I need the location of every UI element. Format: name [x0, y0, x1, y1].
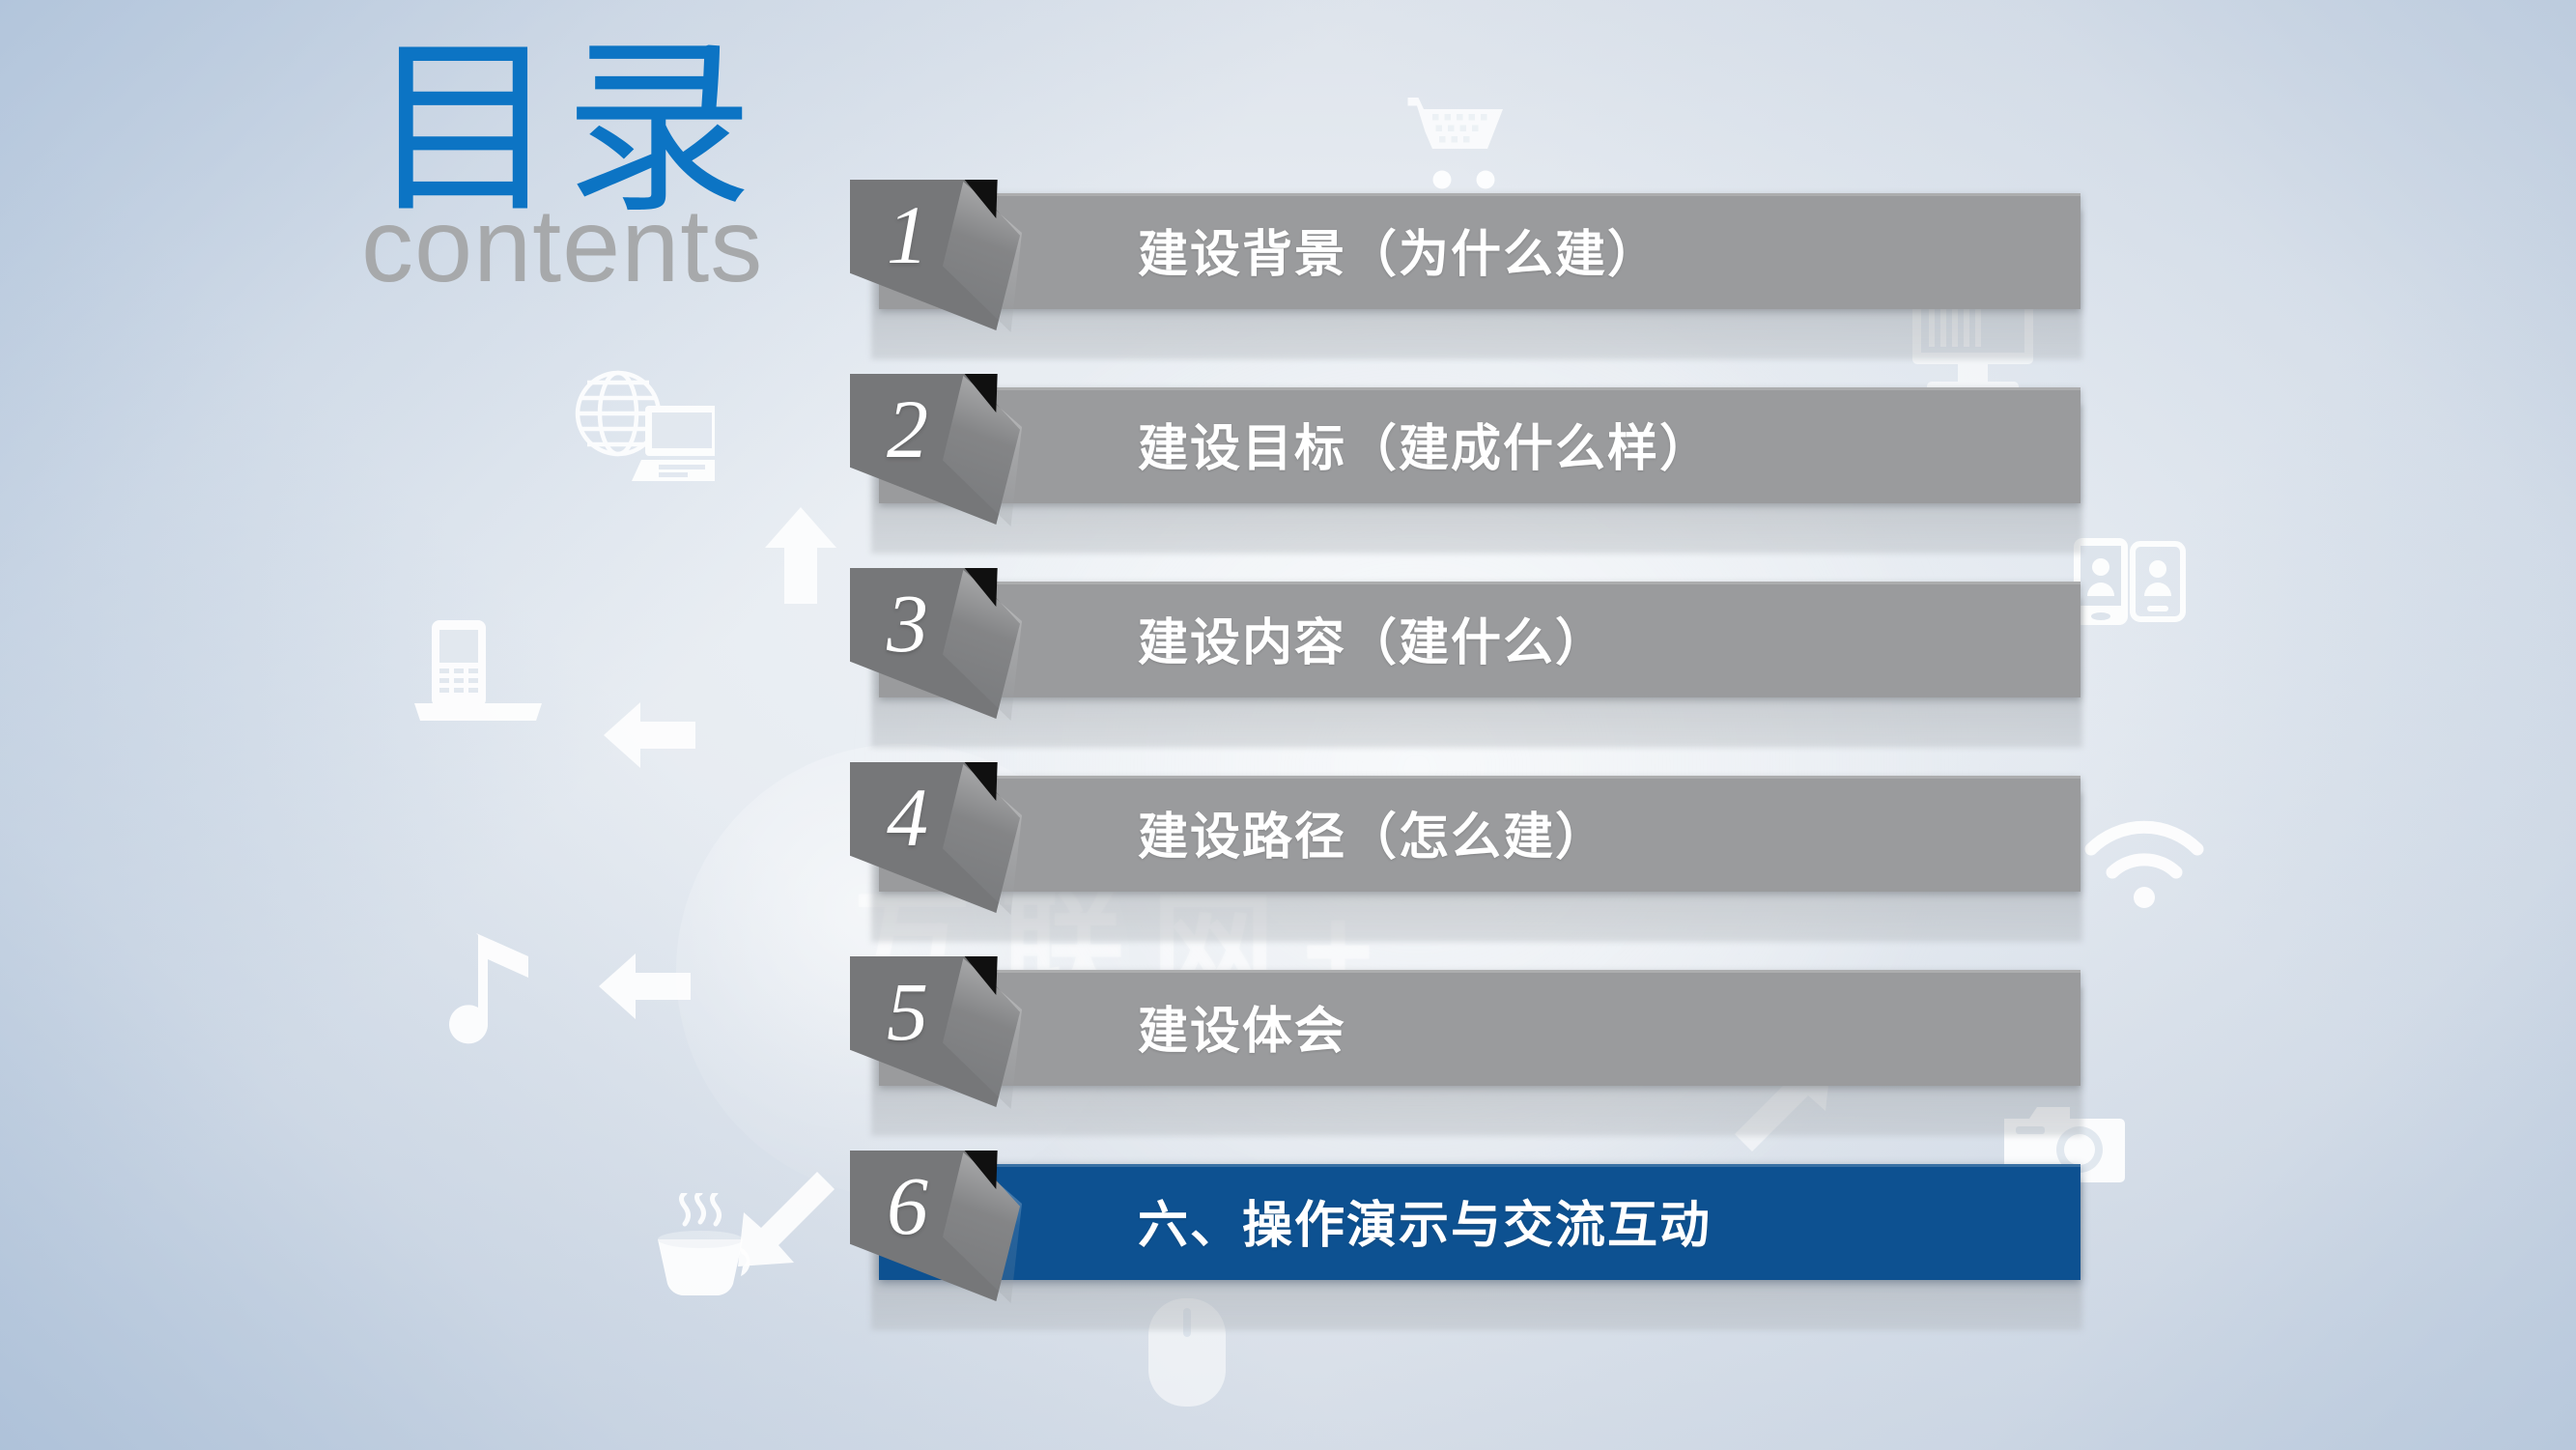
- row-bar-highlight: [879, 970, 2081, 973]
- row-label: 建设背景（为什么建）: [1138, 213, 1659, 286]
- row-bar-highlight: [879, 1164, 2081, 1167]
- slide-canvas: 互联网+: [0, 0, 2576, 1450]
- list-item[interactable]: 建设目标（建成什么样） 2: [850, 374, 2096, 568]
- tab-corner-triangle-icon: [963, 180, 997, 218]
- list-item[interactable]: 建设背景（为什么建） 1: [850, 180, 2096, 374]
- row-bar-highlight: [879, 193, 2081, 196]
- tab-corner-triangle-icon: [963, 956, 997, 995]
- row-label: 建设体会: [1138, 990, 1346, 1063]
- list-item-active[interactable]: 六、操作演示与交流互动 6: [850, 1151, 2096, 1345]
- row-label: 建设目标（建成什么样）: [1138, 408, 1712, 480]
- row-number: 4: [887, 776, 928, 859]
- tab-corner-triangle-icon: [963, 762, 997, 801]
- row-number-tab: 3: [850, 568, 1020, 719]
- list-item[interactable]: 建设体会 5: [850, 956, 2096, 1151]
- page-title: 目录 contents: [348, 46, 802, 288]
- row-bar[interactable]: 建设路径（怎么建）: [879, 776, 2081, 892]
- row-number: 6: [887, 1164, 928, 1247]
- contents-list: 建设背景（为什么建） 1 建设目标（建成什么样） 2: [850, 180, 2096, 1345]
- list-item[interactable]: 建设路径（怎么建） 4: [850, 762, 2096, 956]
- row-bar-active[interactable]: 六、操作演示与交流互动: [879, 1164, 2081, 1280]
- row-bar[interactable]: 建设内容（建什么）: [879, 582, 2081, 697]
- row-label: 六、操作演示与交流互动: [1138, 1184, 1712, 1257]
- row-bar-highlight: [879, 776, 2081, 779]
- row-number: 1: [887, 193, 928, 276]
- row-bar-highlight: [879, 387, 2081, 390]
- row-number: 5: [887, 970, 928, 1053]
- row-label: 建设内容（建什么）: [1138, 602, 1607, 674]
- row-bar[interactable]: 建设目标（建成什么样）: [879, 387, 2081, 503]
- tab-corner-triangle-icon: [963, 568, 997, 607]
- row-number: 3: [887, 582, 928, 665]
- list-item[interactable]: 建设内容（建什么） 3: [850, 568, 2096, 762]
- row-bar-highlight: [879, 582, 2081, 584]
- tab-corner-triangle-icon: [963, 374, 997, 412]
- row-number-tab: 6: [850, 1151, 1020, 1301]
- row-bar[interactable]: 建设体会: [879, 970, 2081, 1086]
- tab-corner-triangle-icon: [963, 1151, 997, 1189]
- row-number: 2: [887, 387, 928, 470]
- row-label: 建设路径（怎么建）: [1138, 796, 1607, 868]
- row-number-tab: 4: [850, 762, 1020, 913]
- row-number-tab: 2: [850, 374, 1020, 525]
- row-bar[interactable]: 建设背景（为什么建）: [879, 193, 2081, 309]
- row-number-tab: 5: [850, 956, 1020, 1107]
- title-english: contents: [361, 193, 763, 298]
- row-number-tab: 1: [850, 180, 1020, 330]
